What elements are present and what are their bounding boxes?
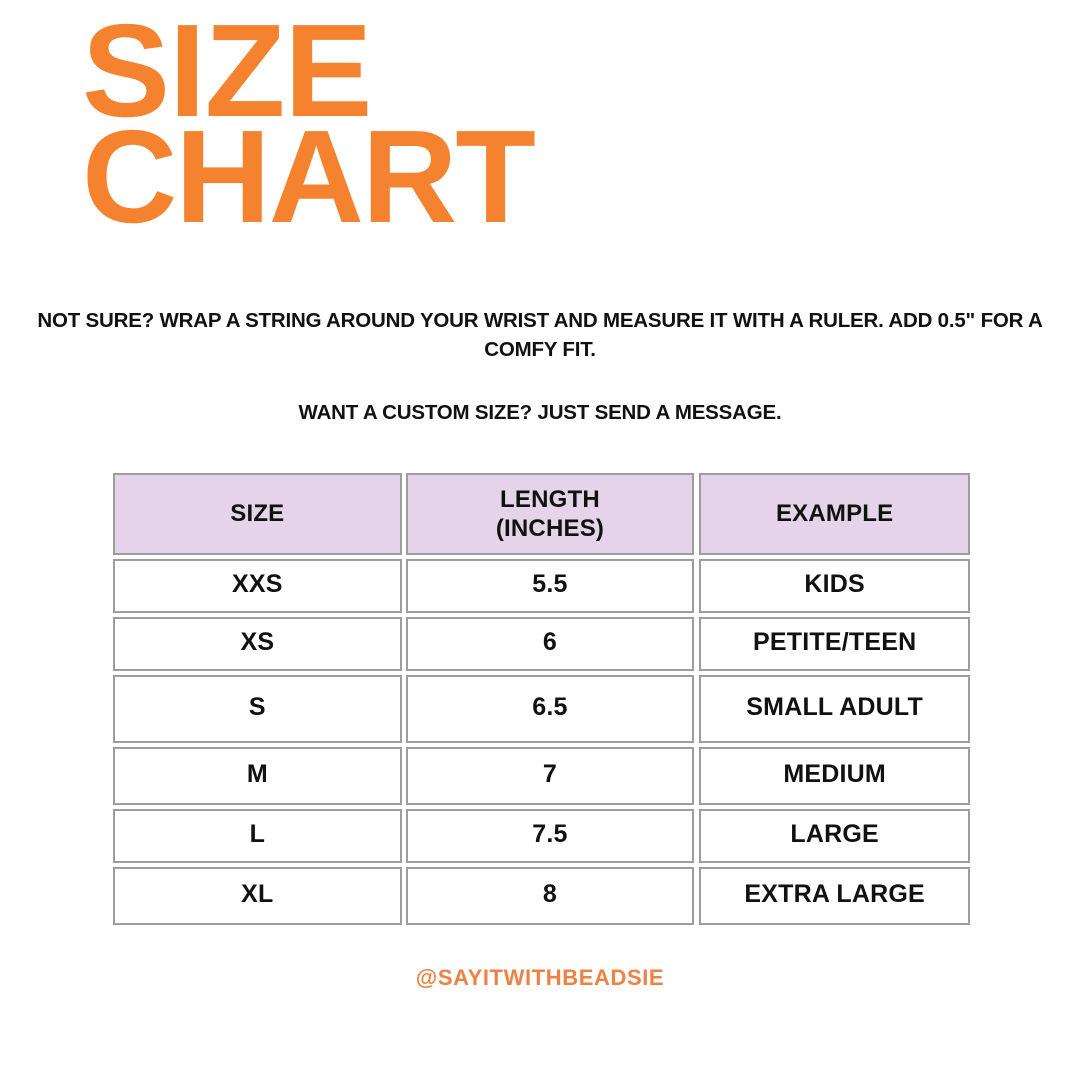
cell-example: PETITE/TEEN <box>699 617 970 671</box>
table-row: S 6.5 SMALL ADULT <box>113 675 970 743</box>
page-title: SIZE CHART <box>82 18 982 229</box>
cell-example: EXTRA LARGE <box>699 867 970 925</box>
cell-length: 5.5 <box>406 559 695 613</box>
size-chart-table: SIZE LENGTH (INCHES) EXAMPLE XXS 5.5 KID… <box>113 473 970 929</box>
column-header-length-units: (INCHES) <box>496 514 604 543</box>
column-header-example-label: EXAMPLE <box>776 499 893 528</box>
table-row: XS 6 PETITE/TEEN <box>113 617 970 671</box>
column-header-length-label: LENGTH <box>496 485 604 514</box>
table-row: XXS 5.5 KIDS <box>113 559 970 613</box>
column-header-size: SIZE <box>113 473 402 555</box>
cell-size: S <box>113 675 402 743</box>
title-line-chart: CHART <box>82 124 982 230</box>
cell-example: MEDIUM <box>699 747 970 805</box>
column-header-size-label: SIZE <box>230 499 284 528</box>
table-row: XL 8 EXTRA LARGE <box>113 867 970 925</box>
cell-size: L <box>113 809 402 863</box>
cell-example: SMALL ADULT <box>699 675 970 743</box>
cell-length: 7.5 <box>406 809 695 863</box>
intro-paragraph-measuring: NOT SURE? WRAP A STRING AROUND YOUR WRIS… <box>10 306 1070 364</box>
cell-example: KIDS <box>699 559 970 613</box>
cell-length: 8 <box>406 867 695 925</box>
intro-paragraph-custom-size: WANT A CUSTOM SIZE? JUST SEND A MESSAGE. <box>10 398 1070 427</box>
cell-size: XS <box>113 617 402 671</box>
column-header-example: EXAMPLE <box>699 473 970 555</box>
cell-length: 7 <box>406 747 695 805</box>
cell-length: 6 <box>406 617 695 671</box>
cell-example: LARGE <box>699 809 970 863</box>
cell-size: XXS <box>113 559 402 613</box>
table-header-row: SIZE LENGTH (INCHES) EXAMPLE <box>113 473 970 555</box>
table-row: L 7.5 LARGE <box>113 809 970 863</box>
column-header-length: LENGTH (INCHES) <box>406 473 695 555</box>
cell-size: M <box>113 747 402 805</box>
cell-length: 6.5 <box>406 675 695 743</box>
size-chart-page: SIZE CHART NOT SURE? WRAP A STRING AROUN… <box>0 0 1080 1080</box>
table-row: M 7 MEDIUM <box>113 747 970 805</box>
instagram-handle: @SAYITWITHBEADSIE <box>0 965 1080 991</box>
cell-size: XL <box>113 867 402 925</box>
